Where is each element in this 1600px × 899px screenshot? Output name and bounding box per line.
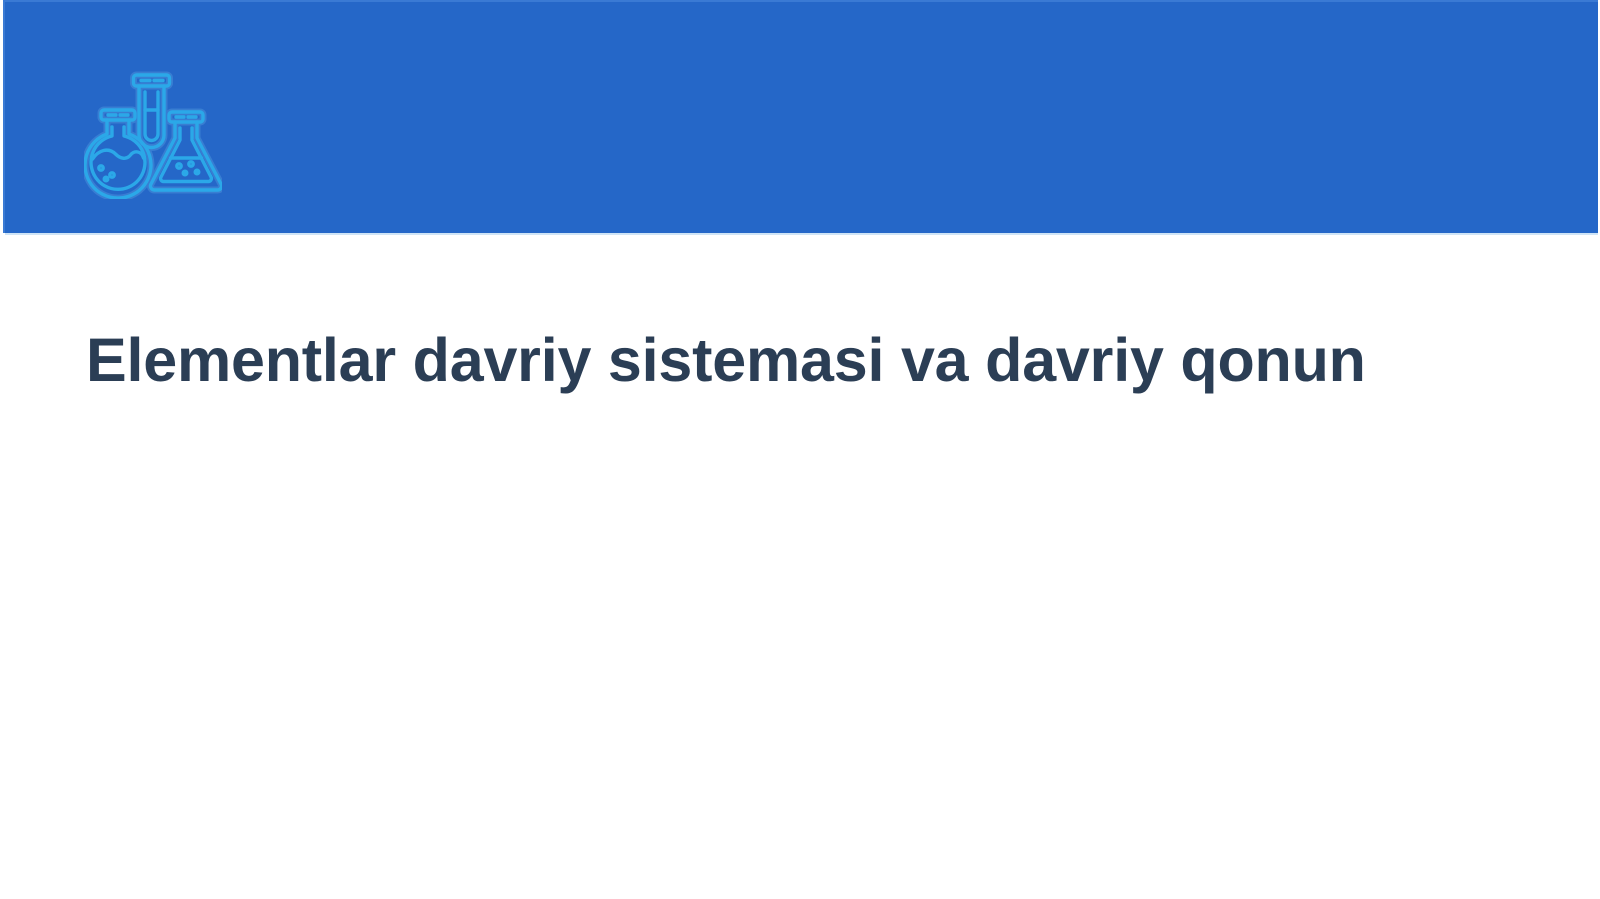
slide-content-area: [0, 430, 1600, 899]
chemistry-flasks-icon: [84, 65, 222, 199]
title-block: Elementlar davriy sistemasi va davriy qo…: [86, 325, 1526, 397]
presentation-slide: Elementlar davriy sistemasi va davriy qo…: [0, 0, 1600, 899]
slide-header-band: [3, 0, 1598, 233]
page-title: Elementlar davriy sistemasi va davriy qo…: [86, 325, 1526, 397]
